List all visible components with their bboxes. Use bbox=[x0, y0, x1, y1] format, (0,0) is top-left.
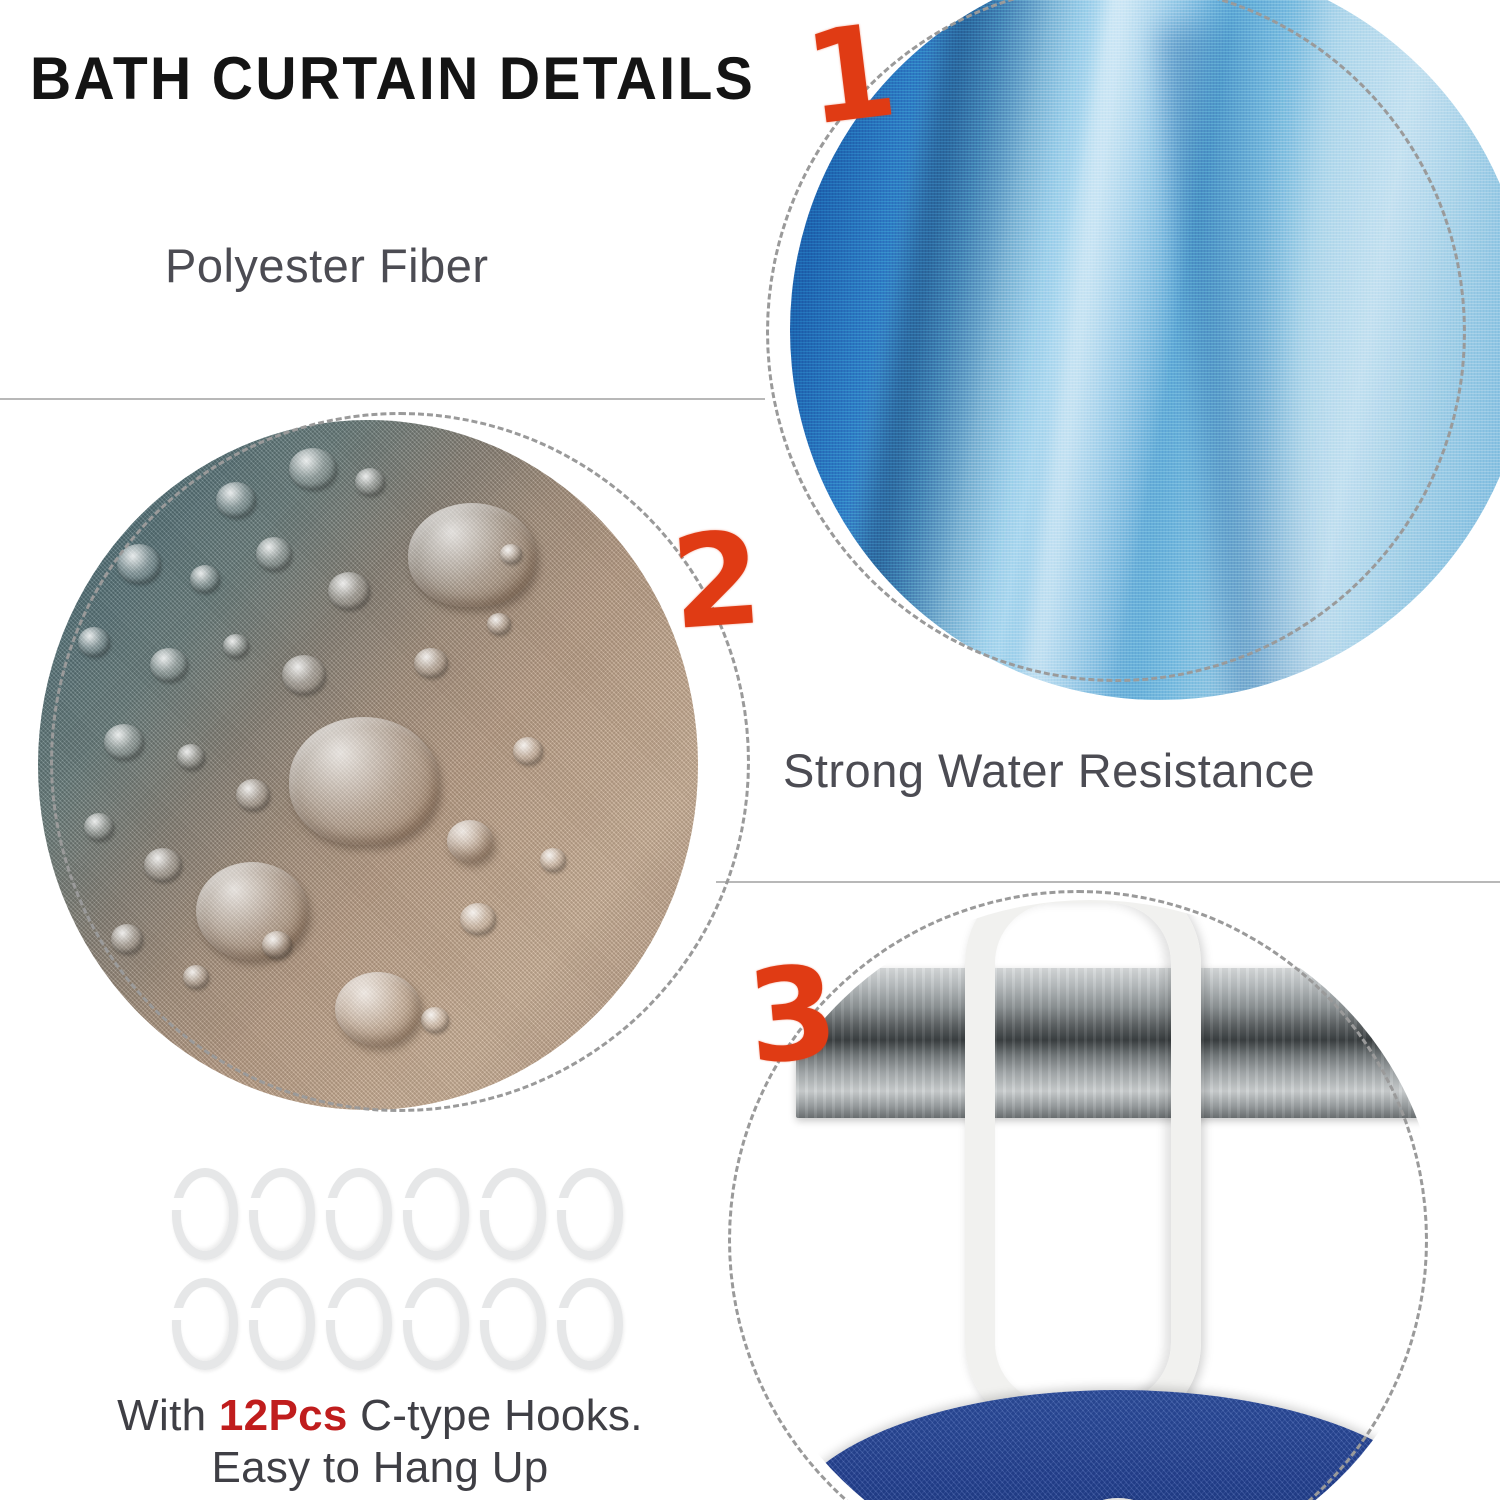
hooks-caption-suffix: C-type Hooks. bbox=[348, 1391, 643, 1440]
hook-ring-icon bbox=[172, 1278, 238, 1370]
feature-1-caption: Polyester Fiber bbox=[165, 238, 489, 293]
feature-2-waterdrops-photo bbox=[38, 420, 698, 1110]
water-bead bbox=[421, 1007, 449, 1033]
infographic-canvas: BATH CURTAIN DETAILS 1 Polyester Fiber bbox=[0, 0, 1500, 1500]
feature-2-marker-number: 2 bbox=[668, 515, 766, 649]
hook-gap bbox=[323, 1198, 338, 1210]
hook-ring-icon bbox=[326, 1278, 392, 1370]
hook-gap bbox=[246, 1198, 261, 1210]
water-bead bbox=[150, 648, 188, 682]
hook-item bbox=[480, 1278, 546, 1370]
hook-ring-icon bbox=[249, 1168, 315, 1260]
c-type-hook-ring bbox=[965, 900, 1201, 1433]
hook-gap bbox=[246, 1308, 261, 1320]
hook-item bbox=[403, 1278, 469, 1370]
feature-1-marker-number: 1 bbox=[799, 7, 903, 145]
hook-gap bbox=[554, 1308, 569, 1320]
hook-ring-icon bbox=[403, 1168, 469, 1260]
water-bead bbox=[487, 613, 511, 635]
hook-item bbox=[557, 1278, 623, 1370]
hook-item bbox=[249, 1168, 315, 1260]
hook-item bbox=[172, 1168, 238, 1260]
water-bead bbox=[540, 848, 566, 872]
hooks-caption-line-2: Easy to Hang Up bbox=[0, 1442, 760, 1494]
hook-gap bbox=[477, 1198, 492, 1210]
water-bead bbox=[282, 655, 326, 695]
water-bead bbox=[289, 717, 439, 845]
water-bead bbox=[111, 924, 143, 954]
hooks-quantity-highlight: 12Pcs bbox=[219, 1391, 348, 1440]
water-bead bbox=[78, 627, 110, 657]
hook-ring-icon bbox=[480, 1278, 546, 1370]
hooks-grid bbox=[172, 1168, 633, 1374]
hook-ring-icon bbox=[557, 1168, 623, 1260]
hook-ring-icon bbox=[172, 1168, 238, 1260]
hook-ring-icon bbox=[249, 1278, 315, 1370]
hook-item bbox=[326, 1278, 392, 1370]
hook-ring-icon bbox=[326, 1168, 392, 1260]
hook-gap bbox=[400, 1308, 415, 1320]
hook-item bbox=[172, 1278, 238, 1370]
water-bead bbox=[177, 744, 205, 770]
water-bead bbox=[414, 648, 448, 678]
hook-ring-icon bbox=[557, 1278, 623, 1370]
feature-2-caption: Strong Water Resistance bbox=[783, 743, 1315, 798]
page-title: BATH CURTAIN DETAILS bbox=[30, 44, 755, 113]
hook-item bbox=[326, 1168, 392, 1260]
water-bead bbox=[335, 972, 421, 1046]
hook-gap bbox=[323, 1308, 338, 1320]
water-bead bbox=[256, 537, 292, 571]
hook-ring-icon bbox=[480, 1168, 546, 1260]
water-bead bbox=[236, 779, 270, 811]
feature-3-hook-rod-photo bbox=[740, 900, 1440, 1500]
hook-gap bbox=[169, 1308, 184, 1320]
hook-gap bbox=[554, 1198, 569, 1210]
hook-item bbox=[557, 1168, 623, 1260]
water-bead bbox=[262, 931, 292, 959]
water-bead bbox=[91, 475, 125, 507]
water-bead bbox=[190, 565, 220, 593]
hook-gap bbox=[400, 1198, 415, 1210]
hook-ring-icon bbox=[403, 1278, 469, 1370]
water-bead bbox=[144, 848, 182, 882]
hook-item bbox=[403, 1168, 469, 1260]
hook-gap bbox=[477, 1308, 492, 1320]
water-bead bbox=[150, 455, 176, 479]
divider-line-top bbox=[0, 398, 765, 400]
hooks-caption-line-1: With 12Pcs C-type Hooks. bbox=[0, 1390, 760, 1442]
water-bead bbox=[328, 572, 370, 610]
water-bead bbox=[104, 724, 144, 760]
hooks-caption: With 12Pcs C-type Hooks. Easy to Hang Up bbox=[0, 1390, 760, 1494]
hook-gap bbox=[169, 1198, 184, 1210]
hook-item bbox=[249, 1278, 315, 1370]
water-bead bbox=[289, 448, 337, 490]
water-bead bbox=[355, 468, 385, 496]
divider-line-middle bbox=[716, 881, 1500, 883]
feature-3-marker-number: 3 bbox=[743, 948, 843, 1083]
hook-item bbox=[480, 1168, 546, 1260]
water-bead bbox=[223, 634, 249, 658]
hooks-caption-prefix: With bbox=[117, 1391, 219, 1440]
